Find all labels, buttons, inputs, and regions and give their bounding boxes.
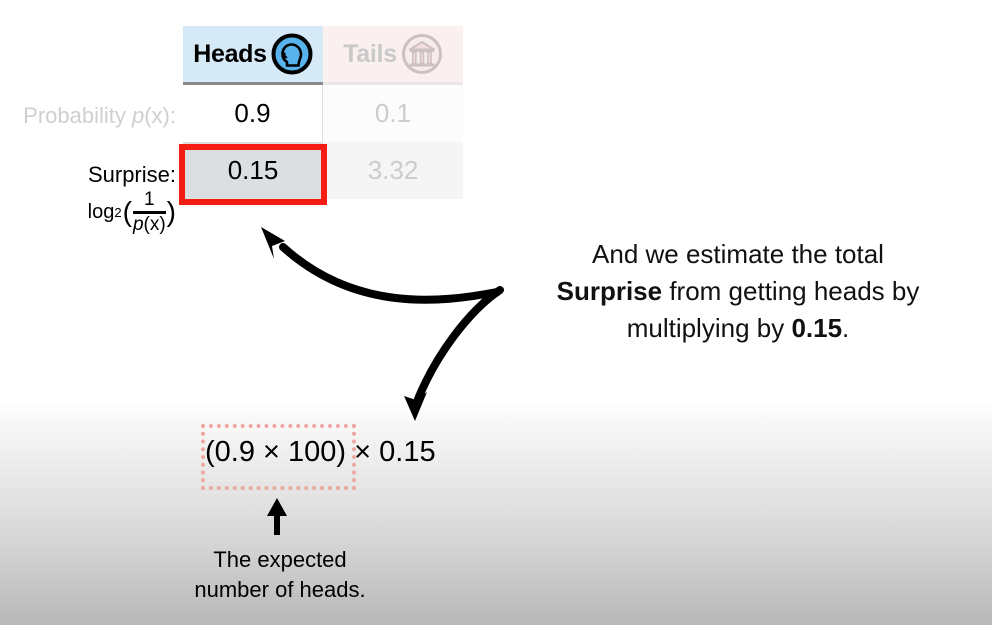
log-text: log (88, 201, 115, 224)
background-gradient (0, 398, 992, 625)
log-base: 2 (114, 205, 122, 220)
narration-line-2-rest: from getting heads by (662, 276, 919, 306)
equation-boxed-part: (0.9 × 100) (205, 436, 346, 468)
row-label-surprise: Surprise: (0, 162, 176, 188)
table-header-tails[interactable]: Tails (323, 26, 463, 85)
head-profile-coin-icon (271, 33, 313, 75)
probability-surprise-table: Heads 0.9 0.15 Tails (183, 26, 463, 206)
cell-surprise-heads: 0.15 (183, 142, 323, 199)
cell-probability-tails: 0.1 (323, 85, 463, 142)
row-label-probability-suffix: (x): (144, 103, 176, 128)
narration-text: And we estimate the total Surprise from … (512, 236, 964, 347)
slide-canvas: Heads 0.9 0.15 Tails (0, 0, 992, 625)
building-coin-icon (401, 33, 443, 75)
narration-bold-surprise: Surprise (557, 276, 663, 306)
table-header-heads-label: Heads (193, 40, 267, 69)
row-label-probability-var: p (132, 103, 144, 128)
caption-line-2: number of heads. (194, 577, 365, 602)
curved-arrow-to-table (261, 227, 497, 300)
equation-expected-surprise: (0.9 × 100) × 0.15 (205, 436, 436, 469)
caption-expected-number-of-heads: The expected number of heads. (155, 545, 405, 604)
fraction-denominator: p(x) (133, 215, 166, 235)
formula-fraction: 1p(x) (133, 190, 166, 235)
fraction-denominator-rest: (x) (144, 214, 166, 235)
narration-line-3-period: . (842, 313, 849, 343)
fraction-numerator: 1 (144, 190, 155, 210)
narration-line-1: And we estimate the total (592, 239, 884, 269)
row-label-probability-word: Probability (23, 103, 126, 128)
narration-bold-value: 0.15 (791, 313, 842, 343)
row-label-probability: Probability p(x): (0, 103, 176, 129)
cell-probability-heads: 0.9 (183, 85, 323, 142)
table-column-tails: Tails 0.1 3.32 (323, 26, 463, 199)
table-header-heads[interactable]: Heads (183, 26, 323, 85)
narration-line-3-rest: multiplying by (627, 313, 792, 343)
table-header-tails-label: Tails (343, 40, 397, 69)
cell-surprise-tails: 3.32 (323, 142, 463, 199)
formula-close-paren: ) (167, 198, 176, 226)
equation-rest: × 0.15 (346, 436, 436, 468)
fraction-denominator-var: p (133, 214, 144, 235)
row-label-surprise-formula: log2(1p(x)) (0, 190, 176, 235)
caption-line-1: The expected (213, 547, 346, 572)
formula-open-paren: ( (123, 198, 132, 226)
table-column-heads: Heads 0.9 0.15 (183, 26, 323, 199)
